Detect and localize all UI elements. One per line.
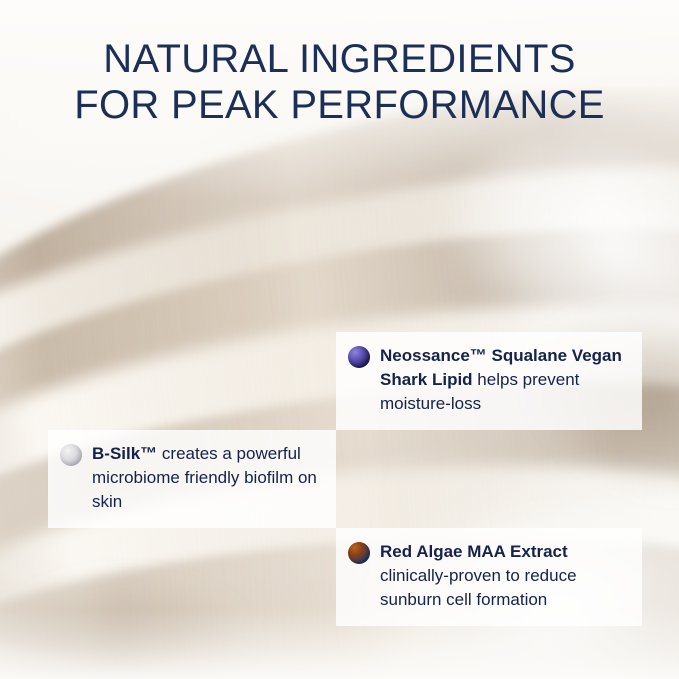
callout-card-bsilk: B-Silk™ creates a powerful microbiome fr…	[48, 430, 336, 528]
callout-text-bsilk: B-Silk™ creates a powerful microbiome fr…	[92, 442, 324, 514]
callout-text-algae: Red Algae MAA Extract clinically-proven …	[380, 540, 628, 612]
callout-card-neossance: Neossance™ Squalane Vegan Shark Lipid he…	[336, 332, 642, 430]
callout-bold-bsilk: B-Silk™	[92, 444, 157, 463]
red-algae-sphere-icon	[348, 542, 370, 564]
page-title: NATURAL INGREDIENTS FOR PEAK PERFORMANCE	[0, 36, 679, 128]
callout-card-algae: Red Algae MAA Extract clinically-proven …	[336, 528, 642, 626]
silver-sphere-icon	[60, 444, 82, 466]
product-ingredient-infographic: NATURAL INGREDIENTS FOR PEAK PERFORMANCE…	[0, 0, 679, 679]
callout-rest-algae: clinically-proven to reduce sunburn cell…	[380, 566, 577, 609]
callout-bold-algae: Red Algae MAA Extract	[380, 542, 568, 561]
callout-text-neossance: Neossance™ Squalane Vegan Shark Lipid he…	[380, 344, 628, 416]
purple-sphere-icon	[348, 346, 370, 368]
